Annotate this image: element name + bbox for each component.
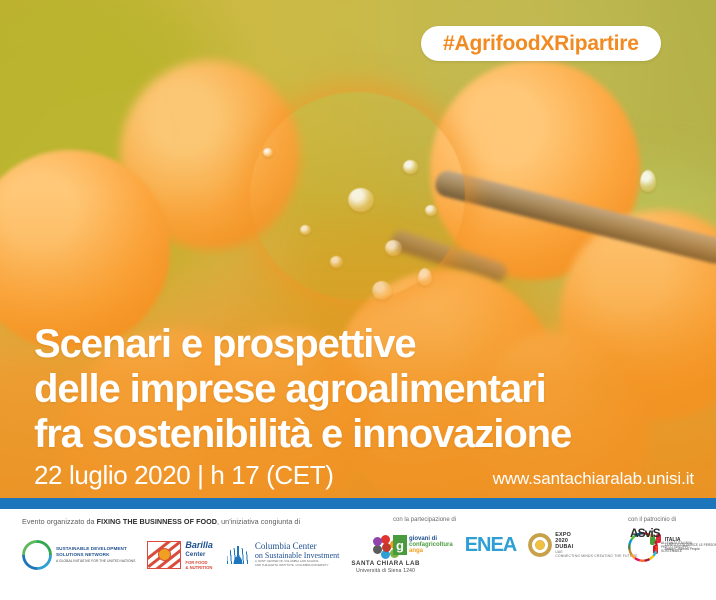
water-droplet [403, 160, 418, 174]
footer-patronage: con il patrocinio di ASviS ALLEANZA ITAL… [628, 517, 714, 562]
expo-ring-icon [528, 533, 552, 557]
barilla-word: Barilla [185, 540, 213, 550]
patronage-label: con il patrocinio di [628, 517, 714, 523]
enea-wordmark: ENEA [465, 535, 517, 555]
scl-line-1: SANTA CHIARA LAB [351, 560, 420, 567]
logo-sdsn: SUSTAINABLE DEVELOPMENT SOLUTIONS NETWOR… [22, 540, 135, 570]
asvis-sub-3: SOSTENIBILE [661, 549, 692, 553]
organizer-logo-row: SUSTAINABLE DEVELOPMENT SOLUTIONS NETWOR… [22, 535, 382, 574]
barilla-mark-icon [147, 541, 181, 569]
participation-label: con la partecipazione di [393, 517, 615, 523]
logo-enea: ENEA [465, 535, 517, 555]
event-meta-row: 22 luglio 2020 | h 17 (CET) www.santachi… [34, 460, 694, 491]
footer-participation: con la partecipazione di g giovani di co… [393, 517, 615, 558]
expo-wordmark: EXPO 2020 DUBAI UAE CONNECTING MINDS CRE… [555, 532, 637, 558]
footer: Evento organizzato da FIXING THE BUSINNE… [0, 509, 716, 600]
logo-anga: g giovani di confagricoltura anga [393, 535, 453, 555]
sdsn-sub: A GLOBAL INITIATIVE FOR THE UNITED NATIO… [56, 558, 135, 564]
hashtag-badge: #AgrifoodXRipartire [421, 26, 661, 61]
expo-sub: CONNECTING MINDS CREATING THE FUTURE [555, 554, 637, 558]
water-droplet [640, 170, 656, 192]
columbia-wordmark: Columbia Center on Sustainable Investmen… [255, 542, 339, 567]
anga-line-3: anga [409, 548, 453, 554]
sdsn-line-1: SUSTAINABLE DEVELOPMENT [56, 546, 135, 552]
water-droplet [263, 148, 273, 157]
columbia-sub-2: AND THE EARTH INSTITUTE, COLUMBIA UNIVER… [255, 564, 339, 568]
logo-expo2020-dubai: EXPO 2020 DUBAI UAE CONNECTING MINDS CRE… [528, 532, 637, 558]
asvis-subtext: ALLEANZA ITALIANA PER LO SVILUPPO SOSTEN… [661, 541, 692, 553]
title-line-3: fra sostenibilità e innovazione [34, 412, 694, 457]
columbia-crown-icon [225, 542, 251, 568]
event-website-url[interactable]: www.santachiaralab.unisi.it [493, 469, 694, 489]
columbia-line-1: Columbia Center [255, 542, 339, 551]
footer-organizers: Evento organizzato da FIXING THE BUSINNE… [22, 517, 382, 574]
sdsn-wordmark: SUSTAINABLE DEVELOPMENT SOLUTIONS NETWOR… [56, 546, 135, 564]
anga-badge-icon: g [393, 535, 407, 555]
organizer-credit: Evento organizzato da FIXING THE BUSINNE… [22, 517, 382, 526]
participation-logo-row: g giovani di confagricoltura anga ENEA E… [393, 532, 615, 558]
blue-divider-bar [0, 498, 716, 509]
logo-barilla-center: Barilla Center FOR FOOD & NUTRITION [147, 540, 213, 570]
anga-wordmark: giovani di confagricoltura anga [409, 536, 453, 554]
event-poster: #AgrifoodXRipartire Scenari e prospettiv… [0, 0, 716, 600]
patronage-logo-row: ASviS ALLEANZA ITALIANA PER LO SVILUPPO … [628, 532, 714, 562]
event-datetime: 22 luglio 2020 | h 17 (CET) [34, 460, 333, 491]
organizer-credit-bold: FIXING THE BUSINNESS OF FOOD [97, 517, 217, 526]
page-title: Scenari e prospettive delle imprese agro… [34, 322, 694, 457]
scl-line-2: Università di Siena 1240 [356, 568, 415, 574]
organizer-credit-suffix: , un'iniziativa congiunta di [217, 517, 300, 526]
logo-asvis: ASviS ALLEANZA ITALIANA PER LO SVILUPPO … [628, 532, 692, 562]
asvis-wordmark: ASviS [630, 526, 676, 540]
organizer-credit-prefix: Evento organizzato da [22, 517, 97, 526]
barilla-line-3b: & NUTRITION [185, 565, 213, 570]
barilla-line-2: Center [185, 550, 213, 560]
hashtag-label: #AgrifoodXRipartire [443, 32, 639, 56]
title-line-1: Scenari e prospettive [34, 322, 694, 367]
barilla-wordmark: Barilla Center FOR FOOD & NUTRITION [185, 540, 213, 570]
sdsn-ring-icon [22, 540, 52, 570]
logo-columbia-center: Columbia Center on Sustainable Investmen… [225, 542, 339, 568]
title-line-2: delle imprese agroalimentari [34, 367, 694, 412]
